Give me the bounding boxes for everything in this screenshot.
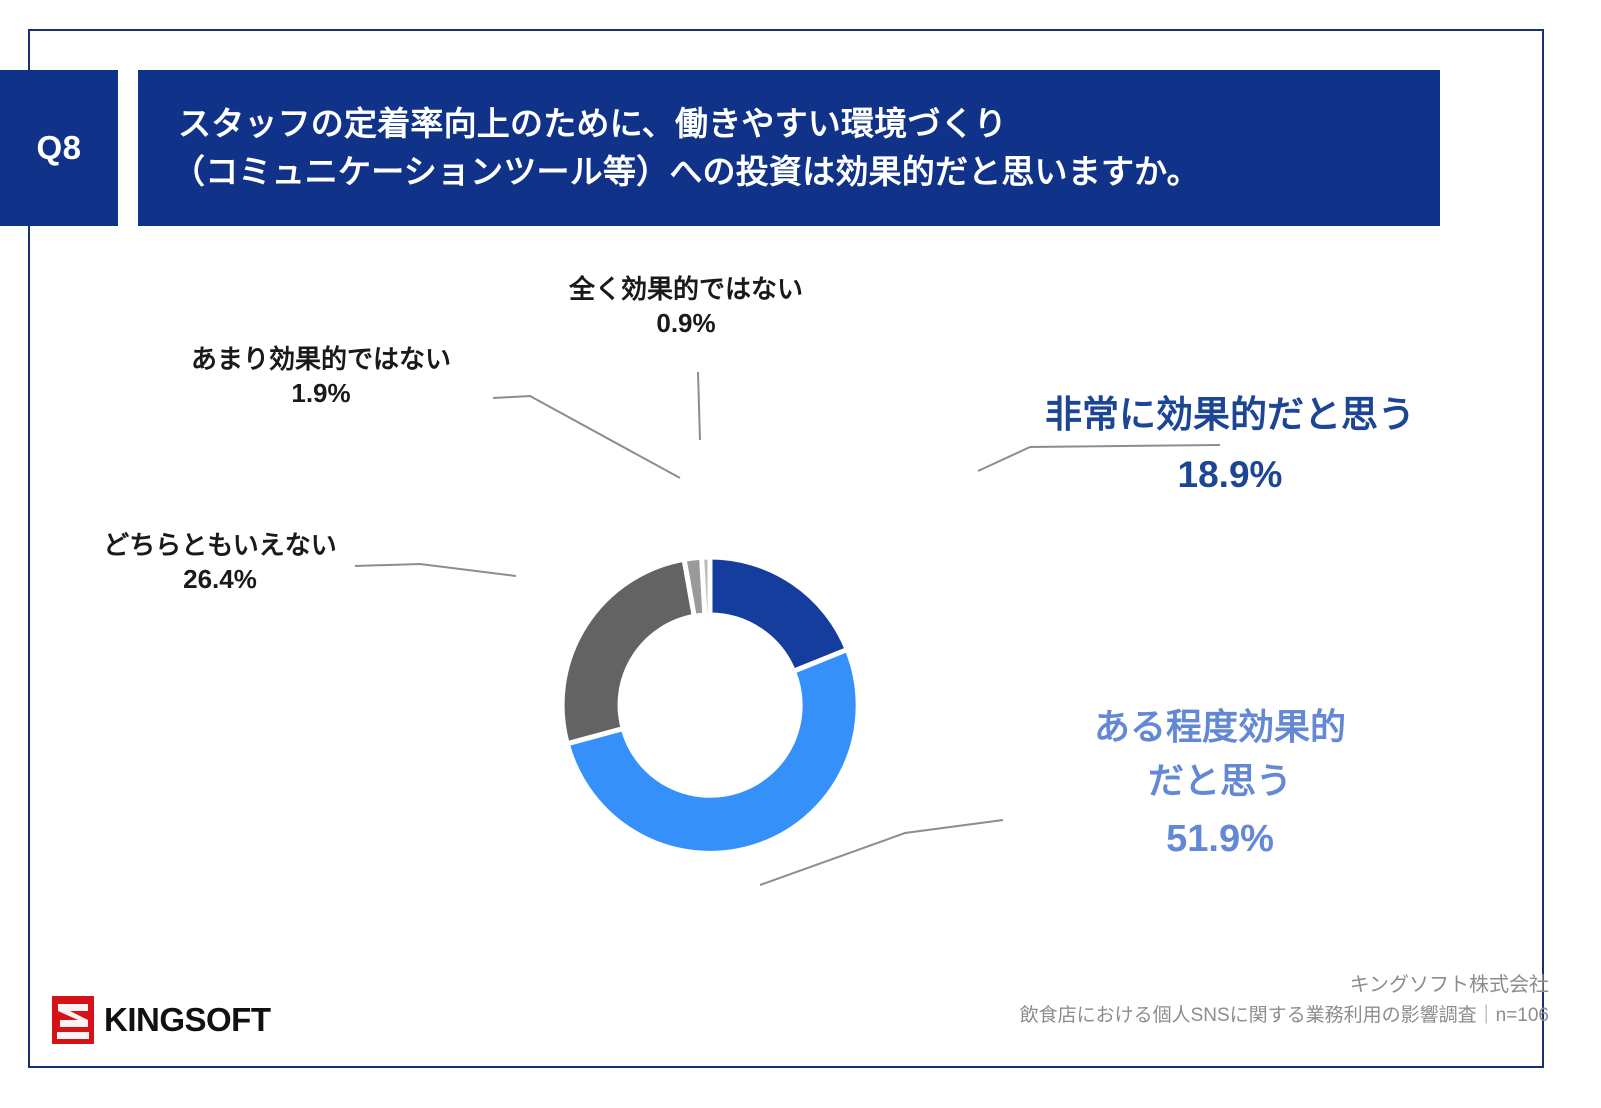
- label-little: あまり効果的ではない 1.9%: [175, 342, 467, 411]
- label-little-value: 1.9%: [175, 376, 467, 410]
- label-neither-value: 26.4%: [84, 562, 356, 596]
- label-little-text: あまり効果的ではない: [175, 342, 467, 376]
- kingsoft-mark-svg: [52, 996, 94, 1044]
- donut-svg: [420, 415, 1000, 995]
- question-title-line-1: スタッフの定着率向上のために、働きやすい環境づくり: [178, 100, 1007, 148]
- source-company: キングソフト株式会社: [1020, 970, 1549, 1001]
- label-some-value: 51.9%: [1010, 808, 1430, 871]
- question-title-box: スタッフの定着率向上のために、働きやすい環境づくり （コミュニケーションツール等…: [138, 70, 1440, 226]
- kingsoft-logo-text: KINGSOFT: [104, 1001, 271, 1039]
- label-none-text: 全く効果的ではない: [556, 272, 816, 306]
- question-number-badge: Q8: [0, 70, 118, 226]
- source-survey: 飲食店における個人SNSに関する業務利用の影響調査｜n=106: [1020, 1001, 1549, 1030]
- label-some-text-line-1: ある程度効果的: [1010, 700, 1430, 754]
- donut-segment-none[interactable]: [702, 557, 710, 615]
- label-neither-text: どちらともいえない: [84, 528, 356, 562]
- slide: Q8 スタッフの定着率向上のために、働きやすい環境づくり （コミュニケーションツ…: [0, 0, 1601, 1108]
- source-credit: キングソフト株式会社 飲食店における個人SNSに関する業務利用の影響調査｜n=1…: [1020, 970, 1549, 1030]
- label-very-text: 非常に効果的だと思う: [960, 390, 1500, 440]
- donut-segment-very[interactable]: [710, 557, 847, 671]
- donut-chart: [420, 415, 1000, 995]
- question-number-label: Q8: [36, 129, 81, 167]
- label-very-value: 18.9%: [960, 440, 1500, 510]
- label-none-value: 0.9%: [556, 306, 816, 340]
- label-none: 全く効果的ではない 0.9%: [556, 272, 816, 341]
- label-some: ある程度効果的 だと思う 51.9%: [1010, 700, 1430, 871]
- label-very: 非常に効果的だと思う 18.9%: [960, 390, 1500, 510]
- question-title-line-2: （コミュニケーションツール等）への投資は効果的だと思いますか。: [178, 148, 1200, 196]
- kingsoft-logo: KINGSOFT: [52, 996, 271, 1044]
- kingsoft-logo-icon: [52, 996, 94, 1044]
- label-neither: どちらともいえない 26.4%: [84, 528, 356, 597]
- label-some-text-line-2: だと思う: [1010, 754, 1430, 808]
- donut-segment-neither[interactable]: [562, 559, 694, 743]
